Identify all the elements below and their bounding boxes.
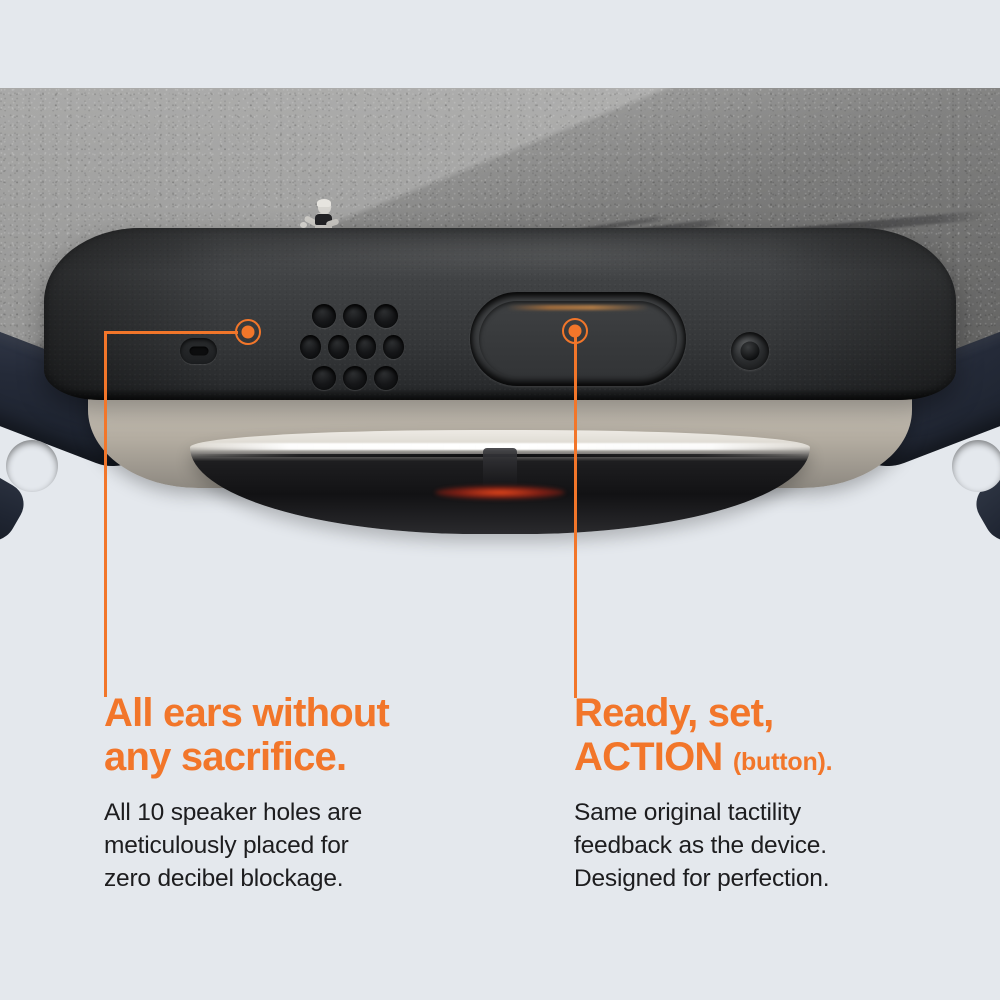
callout-leader-speaker-horizontal	[104, 331, 238, 334]
callout-action-button: Ready, set, ACTION (button). Same origin…	[574, 692, 974, 896]
case-left-shading	[44, 228, 224, 400]
case-right-shading	[766, 228, 956, 400]
callout-action-body-line2: feedback as the device.	[574, 830, 974, 863]
callout-speaker-headline-line2: any sacrifice.	[104, 736, 574, 780]
callout-action-headline-line2-wrap: ACTION (button).	[574, 736, 974, 780]
speaker-hole	[343, 366, 367, 390]
callout-speaker-body-line1: All 10 speaker holes are	[104, 797, 574, 830]
callout-action-body-line1: Same original tactility	[574, 797, 974, 830]
case-bottom-lip	[44, 388, 956, 400]
callout-leader-action-vertical	[574, 332, 577, 698]
speaker-hole	[374, 366, 398, 390]
callout-speaker: All ears without any sacrifice. All 10 s…	[104, 692, 574, 896]
sport-band-hole-left	[6, 440, 58, 492]
heart-rate-sensor-glow	[435, 486, 565, 499]
callout-speaker-body-line2: meticulously placed for	[104, 830, 574, 863]
speaker-grille	[300, 304, 404, 390]
microphone-port	[180, 338, 217, 364]
speaker-hole	[300, 335, 321, 359]
callout-action-headline-suffix: (button).	[733, 748, 833, 776]
callout-action-headline-line2: ACTION	[574, 735, 723, 779]
callout-marker-speaker[interactable]	[235, 319, 261, 345]
speaker-hole-row	[312, 304, 404, 328]
sport-band-hole-right	[952, 440, 1000, 492]
speaker-hole	[383, 335, 404, 359]
callout-speaker-body-line3: zero decibel blockage.	[104, 863, 574, 896]
callout-speaker-headline: All ears without any sacrifice.	[104, 692, 574, 779]
microphone-slot	[189, 347, 208, 356]
speaker-hole	[356, 335, 377, 359]
speaker-hole-row	[300, 335, 404, 359]
callout-action-headline: Ready, set, ACTION (button).	[574, 692, 974, 779]
product-feature-slide: All ears without any sacrifice. All 10 s…	[0, 0, 1000, 1000]
callout-action-body-line3: Designed for perfection.	[574, 863, 974, 896]
callout-speaker-body: All 10 speaker holes are meticulously pl…	[104, 797, 574, 895]
side-port-core	[741, 342, 760, 361]
speaker-hole	[343, 304, 367, 328]
speaker-hole	[328, 335, 349, 359]
sensor-array	[190, 430, 810, 534]
speaker-hole	[312, 304, 336, 328]
callout-action-headline-line1: Ready, set,	[574, 692, 974, 736]
callout-marker-action-button[interactable]	[562, 318, 588, 344]
speaker-hole-row	[312, 366, 404, 390]
speaker-hole	[312, 366, 336, 390]
callout-action-body: Same original tactility feedback as the …	[574, 797, 974, 895]
sensor-center-tab	[483, 448, 517, 488]
side-port-recess	[731, 332, 769, 370]
callout-speaker-headline-line1: All ears without	[104, 692, 574, 736]
callout-leader-speaker-vertical	[104, 331, 107, 697]
action-button-warm-highlight	[507, 305, 650, 310]
callout-text-container: All ears without any sacrifice. All 10 s…	[0, 692, 1000, 896]
speaker-hole	[374, 304, 398, 328]
